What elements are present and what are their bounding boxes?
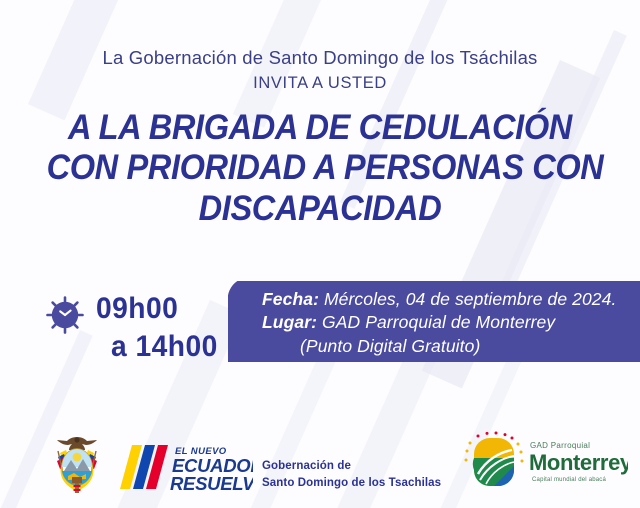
schedule-times: 09h00 a 14h00 <box>96 290 218 365</box>
detail-row-lugar: Lugar: GAD Parroquial de Monterrey <box>262 311 640 334</box>
headline-line-3: DISCAPACIDAD <box>47 189 594 229</box>
governorate-line-2: Santo Domingo de los Tsachilas <box>262 475 441 492</box>
lugar-note: (Punto Digital Gratuito) <box>300 336 480 356</box>
lugar-value: GAD Parroquial de Monterrey <box>322 312 555 332</box>
monterrey-logo: GAD Parroquial Monterrey Capital mundial… <box>456 430 628 497</box>
headline-line-1: A LA BRIGADA DE CEDULACIÓN <box>47 108 594 148</box>
flag-stripes <box>120 445 168 489</box>
monterrey-kicker: GAD Parroquial <box>530 441 590 450</box>
detail-row-fecha: Fecha: Mércoles, 04 de septiembre de 202… <box>262 288 640 311</box>
poster-canvas: La Gobernación de Santo Domingo de los T… <box>0 0 640 508</box>
svg-text:RESUELVE: RESUELVE <box>170 473 253 493</box>
lugar-label: Lugar: <box>262 312 317 332</box>
clock-icon <box>46 296 84 339</box>
details-text: Fecha: Mércoles, 04 de septiembre de 202… <box>262 288 640 358</box>
detail-row-note: (Punto Digital Gratuito) <box>262 335 640 358</box>
kicker-line-2: INVITA A USTED <box>0 71 640 96</box>
governorate-label: Gobernación de Santo Domingo de los Tsac… <box>262 458 441 491</box>
schedule-block: 09h00 a 14h00 <box>46 290 226 365</box>
kicker-line-1: La Gobernación de Santo Domingo de los T… <box>0 46 640 71</box>
time-start: 09h00 <box>96 290 218 328</box>
fecha-label: Fecha: <box>262 289 319 309</box>
governorate-line-1: Gobernación de <box>262 458 441 475</box>
header-kicker: La Gobernación de Santo Domingo de los T… <box>0 46 640 96</box>
ecuador-resuelve-logo: EL NUEVO ECUADOR RESUELVE <box>118 441 253 498</box>
fecha-value: Mércoles, 04 de septiembre de 2024. <box>324 289 616 309</box>
monterrey-name: Monterrey <box>529 450 628 475</box>
ecuador-coat-of-arms-icon <box>48 433 106 500</box>
headline-line-2: CON PRIORIDAD A PERSONAS CON <box>47 148 594 188</box>
time-end: a 14h00 <box>96 328 218 366</box>
monterrey-tagline: Capital mundial del abacá <box>532 477 607 483</box>
page-title: A LA BRIGADA DE CEDULACIÓN CON PRIORIDAD… <box>47 108 594 229</box>
